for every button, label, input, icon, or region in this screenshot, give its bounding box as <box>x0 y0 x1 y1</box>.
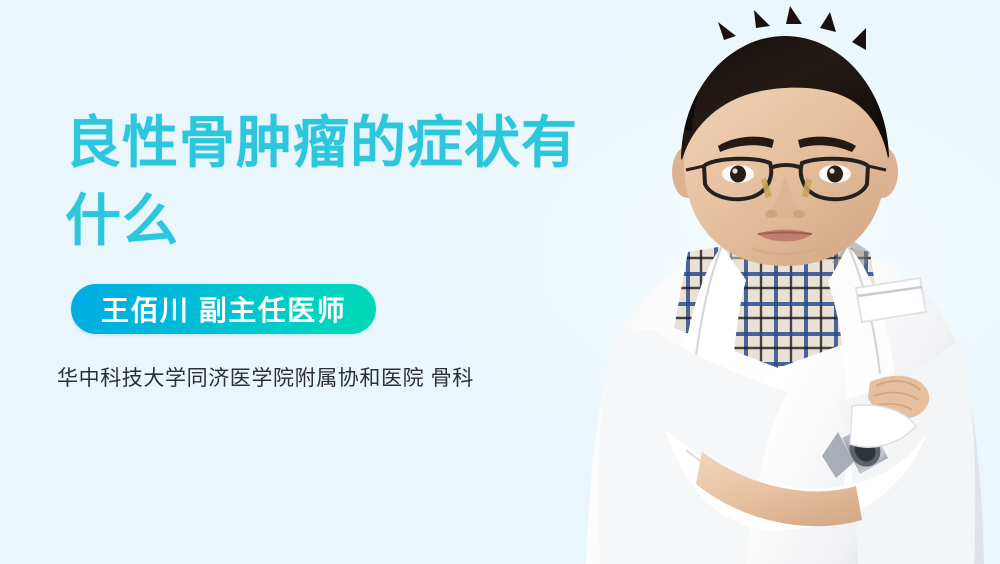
text-block: 良性骨肿瘤的症状有 什么 王佰川 副主任医师 华中科技大学同济医学院附属协和医院… <box>57 104 617 392</box>
video-thumbnail-card: 良性骨肿瘤的症状有 什么 王佰川 副主任医师 华中科技大学同济医学院附属协和医院… <box>0 0 1000 564</box>
doctor-affiliation: 华中科技大学同济医学院附属协和医院 骨科 <box>57 362 617 392</box>
doctor-portrait-image <box>570 0 1000 564</box>
page-title: 良性骨肿瘤的症状有 什么 <box>57 104 617 260</box>
doctor-badge-row: 王佰川 副主任医师 <box>57 284 617 334</box>
doctor-name-title-badge: 王佰川 副主任医师 <box>71 284 376 334</box>
